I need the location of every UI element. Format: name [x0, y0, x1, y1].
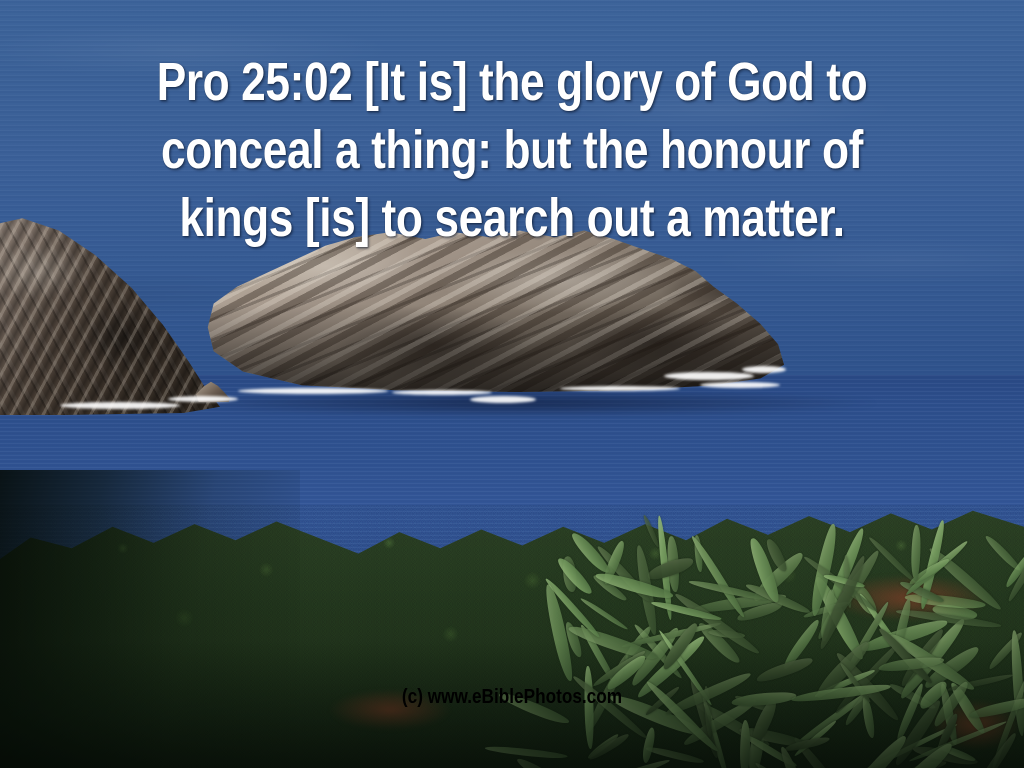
surf-foam	[470, 396, 536, 403]
surf-foam	[742, 366, 786, 373]
surf-foam	[60, 402, 180, 409]
surf-foam	[168, 396, 238, 402]
surf-foam	[664, 372, 754, 380]
verse-photo-canvas: Pro 25:02 [It is] the glory of God to co…	[0, 0, 1024, 768]
surf-foam	[700, 382, 780, 388]
watermark-text: (c) www.eBiblePhotos.com	[402, 686, 622, 709]
palm-frond	[911, 524, 921, 579]
surf-foam	[560, 386, 680, 391]
surf-foam	[238, 388, 388, 394]
watermark: (c) www.eBiblePhotos.com	[0, 686, 1024, 709]
surf-foam	[392, 390, 492, 395]
